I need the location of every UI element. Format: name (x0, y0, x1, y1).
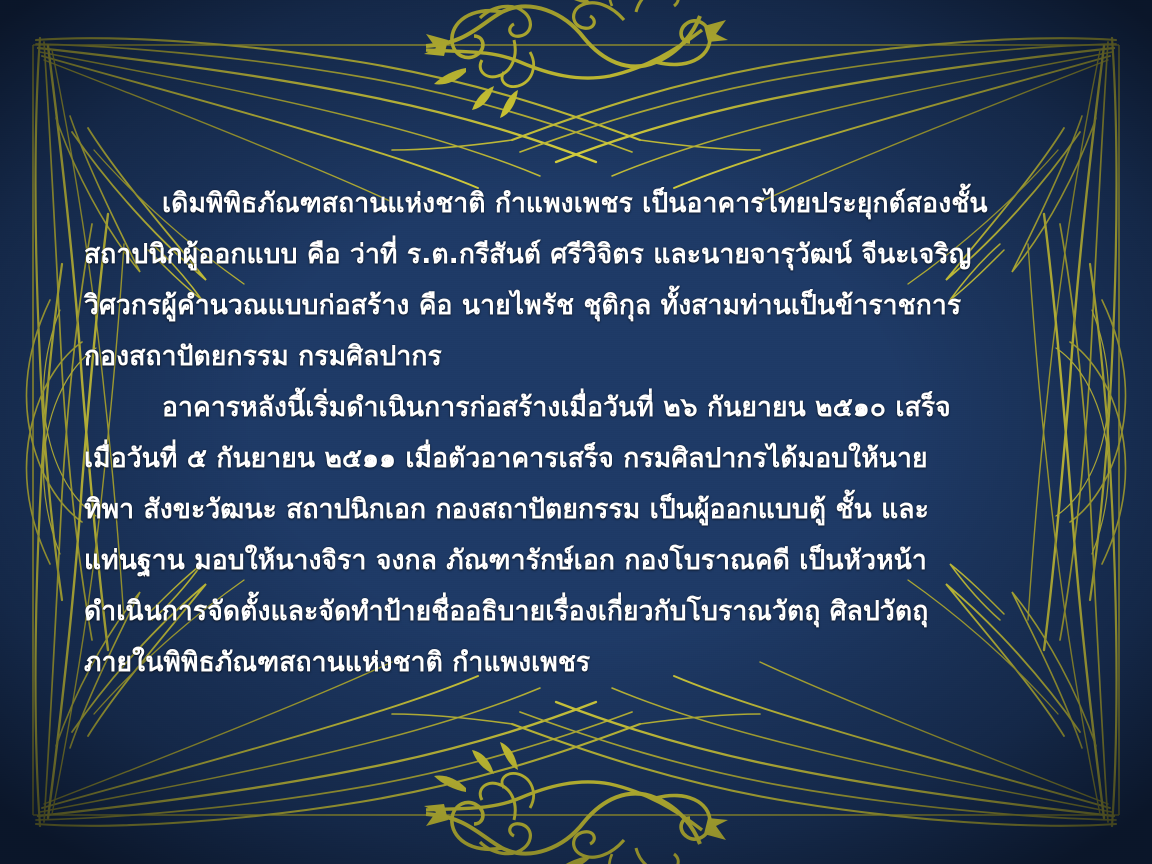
paragraph-2: อาคารหลังนี้เริ่มดำเนินการก่อสร้างเมื่อว… (84, 382, 1074, 688)
text-line: สถาปนิกผู้ออกแบบ คือ ว่าที่ ร.ต.กรีสันต์… (84, 229, 1074, 280)
text-line: ภายในพิพิธภัณฑสถานแห่งชาติ กำแพงเพชร (84, 637, 1074, 688)
presentation-slide: เดิมพิพิธภัณฑสถานแห่งชาติ กำแพงเพชร เป็น… (0, 0, 1152, 864)
text-line: กองสถาปัตยกรรม กรมศิลปากร (84, 331, 1074, 382)
top-center-scroll-ornament (424, 0, 728, 118)
bottom-center-scroll-ornament (424, 742, 728, 864)
text-line: อาคารหลังนี้เริ่มดำเนินการก่อสร้างเมื่อว… (84, 382, 1074, 433)
slide-body-text: เดิมพิพิธภัณฑสถานแห่งชาติ กำแพงเพชร เป็น… (84, 178, 1074, 688)
text-line: เดิมพิพิธภัณฑสถานแห่งชาติ กำแพงเพชร เป็น… (84, 178, 1074, 229)
text-line: เมื่อวันที่ ๕ กันยายน ๒๕๑๑ เมื่อตัวอาคาร… (84, 433, 1074, 484)
text-line: ดำเนินการจัดตั้งและจัดทำป้ายชื่ออธิบายเร… (84, 586, 1074, 637)
paragraph-1: เดิมพิพิธภัณฑสถานแห่งชาติ กำแพงเพชร เป็น… (84, 178, 1074, 382)
text-line: แท่นฐาน มอบให้นางจิรา จงกล ภัณฑารักษ์เอก… (84, 535, 1074, 586)
text-line: ทิพา สังขะวัฒนะ สถาปนิกเอก กองสถาปัตยกรร… (84, 484, 1074, 535)
text-line: วิศวกรผู้คำนวณแบบก่อสร้าง คือ นายไพรัช ช… (84, 280, 1074, 331)
